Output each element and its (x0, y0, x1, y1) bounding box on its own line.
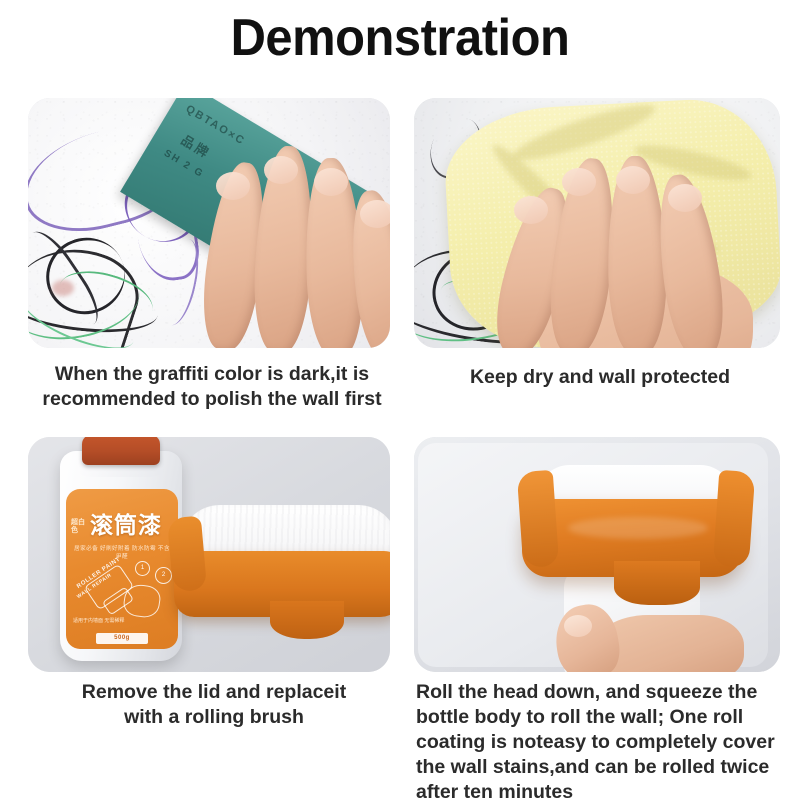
step-4-caption-line-3: coating is noteasy to completely cover (416, 730, 794, 755)
fingernail-2 (264, 156, 298, 184)
fingernail-1 (514, 196, 548, 224)
step-3-caption-line-2: with a rolling brush (26, 705, 402, 730)
bottle-label: 超白色 滚筒漆 居家必备 好刷好附着 防水防霉 不含甲醛 ROLLER PAIN… (66, 489, 178, 649)
step-1-caption-line-2: recommended to polish the wall first (24, 387, 400, 412)
label-badge-2: 2 (155, 567, 172, 584)
paint-bottle-and-roller-head-image: 超白色 滚筒漆 居家必备 好刷好附着 防水防霉 不含甲醛 ROLLER PAIN… (28, 437, 390, 672)
roller-highlight (568, 517, 708, 539)
step-2-photo (414, 98, 780, 348)
step-1-caption: When the graffiti color is dark,it is re… (24, 362, 400, 412)
step-2-caption-line-1: Keep dry and wall protected (414, 365, 786, 390)
hand-squeezing-bottle (550, 597, 750, 672)
step-2-caption: Keep dry and wall protected (414, 365, 786, 390)
step-3-caption-line-1: Remove the lid and replaceit (26, 680, 402, 705)
step-3-caption: Remove the lid and replaceit with a roll… (26, 680, 402, 730)
fingernail-4 (668, 184, 702, 212)
label-side-text: 超白色 (71, 519, 87, 535)
fingernail-4 (360, 200, 390, 228)
roller-left-lip (167, 516, 207, 593)
wiping-wall-with-yellow-cloth-image (414, 98, 780, 348)
thumbnail (564, 615, 592, 637)
step-1-caption-line-1: When the graffiti color is dark,it is (24, 362, 400, 387)
roller-stem (270, 601, 344, 639)
graffiti-pink-smudge (52, 280, 74, 296)
label-product-name: 滚筒漆 (90, 515, 162, 538)
fingernail-1 (216, 172, 250, 200)
hand-wiping-wall (498, 134, 748, 348)
step-4-caption: Roll the head down, and squeeze the bott… (416, 680, 794, 805)
bottle-cap (82, 437, 160, 465)
sanding-block-on-graffiti-wall-image: QBTAO×C 品牌 SH 2 G (28, 98, 390, 348)
label-footer-text: 适用于内墙面 无需稀释 (73, 618, 165, 625)
thumb (550, 600, 624, 672)
step-4-photo (414, 437, 780, 672)
fingernail-3 (616, 166, 650, 194)
label-illustration: ROLLER PAINT WALL REPAIR (74, 559, 170, 621)
step-4-caption-line-4: the wall stains,and can be rolled twice (416, 755, 794, 780)
label-weight-badge: 500g (96, 633, 148, 644)
roller-brush-head (174, 505, 390, 637)
fingernail-2 (562, 168, 596, 196)
rolling-bottle-on-wall-image (414, 437, 780, 672)
step-4-caption-line-2: bottle body to roll the wall; One roll (416, 705, 794, 730)
roller-brush-head (522, 465, 748, 607)
step-4-caption-line-1: Roll the head down, and squeeze the (416, 680, 794, 705)
demonstration-page: Demonstration QBTAO×C 品牌 SH 2 G (0, 0, 800, 800)
step-3-photo: 超白色 滚筒漆 居家必备 好刷好附着 防水防霉 不含甲醛 ROLLER PAIN… (28, 437, 390, 672)
roller-left-lip (517, 470, 560, 568)
roller-right-lip (713, 470, 756, 568)
step-1-photo: QBTAO×C 品牌 SH 2 G (28, 98, 390, 348)
illustration-hand (122, 583, 162, 620)
fingernail-3 (314, 168, 348, 196)
step-4-caption-line-5: after ten minutes (416, 780, 794, 805)
hand-holding-sanding-block (198, 128, 390, 348)
page-title: Demonstration (24, 8, 776, 68)
label-badge-1: 1 (135, 561, 150, 576)
